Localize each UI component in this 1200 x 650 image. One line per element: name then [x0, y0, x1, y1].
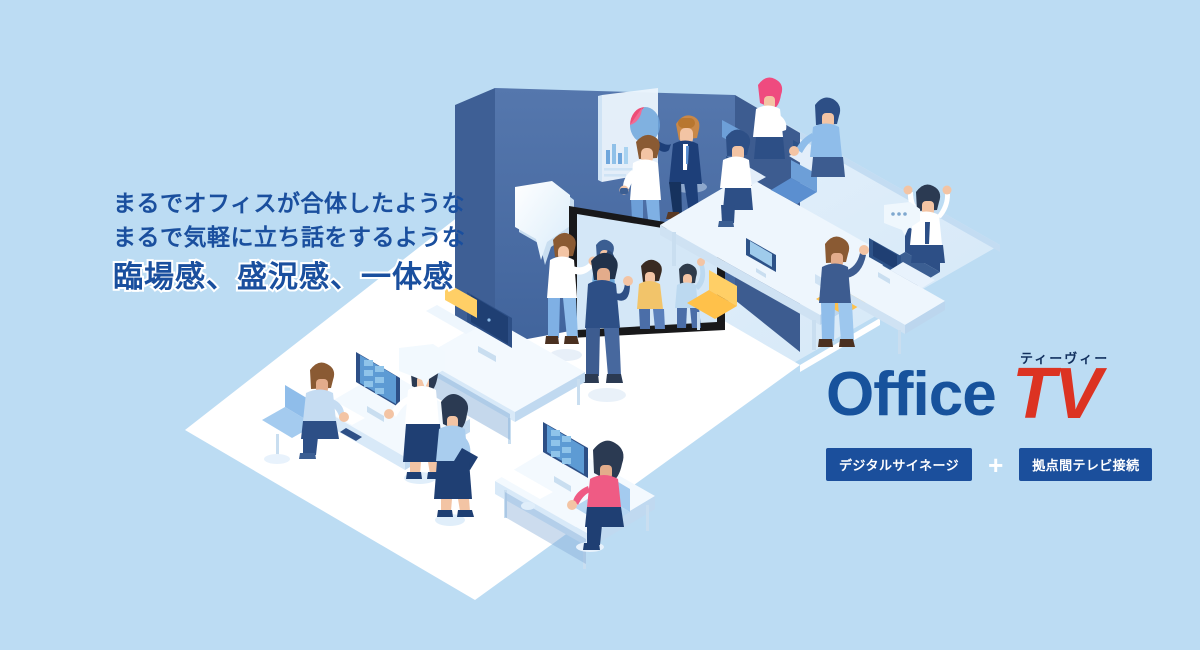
pink-hair-person [753, 77, 786, 159]
headline-block: まるでオフィスが合体したような まるで気軽に立ち話をするような 臨場感、盛況感、… [113, 186, 466, 300]
hero-banner: まるでオフィスが合体したような まるで気軽に立ち話をするような 臨場感、盛況感、… [0, 0, 1200, 650]
product-logo-block: ティーヴィー Office TV デジタルサイネージ + 拠点間テレビ接続 [826, 352, 1156, 481]
logo-word-tv: TV [1012, 358, 1100, 430]
headline-line-2: まるで気軽に立ち話をするような [113, 220, 466, 254]
headline-line-1: まるでオフィスが合体したような [113, 186, 466, 220]
logo-word-office: Office [826, 364, 996, 426]
badge-digital-signage: デジタルサイネージ [826, 448, 972, 481]
isometric-office-illustration [0, 0, 1200, 650]
badge-site-to-site-tv: 拠点間テレビ接続 [1019, 448, 1152, 481]
logo-wordmark: ティーヴィー Office TV [826, 352, 1156, 430]
plus-icon: + [988, 452, 1003, 478]
headline-line-3-emphasis: 臨場感、盛況感、一体感 [113, 256, 466, 300]
feature-badges: デジタルサイネージ + 拠点間テレビ接続 [826, 448, 1156, 481]
